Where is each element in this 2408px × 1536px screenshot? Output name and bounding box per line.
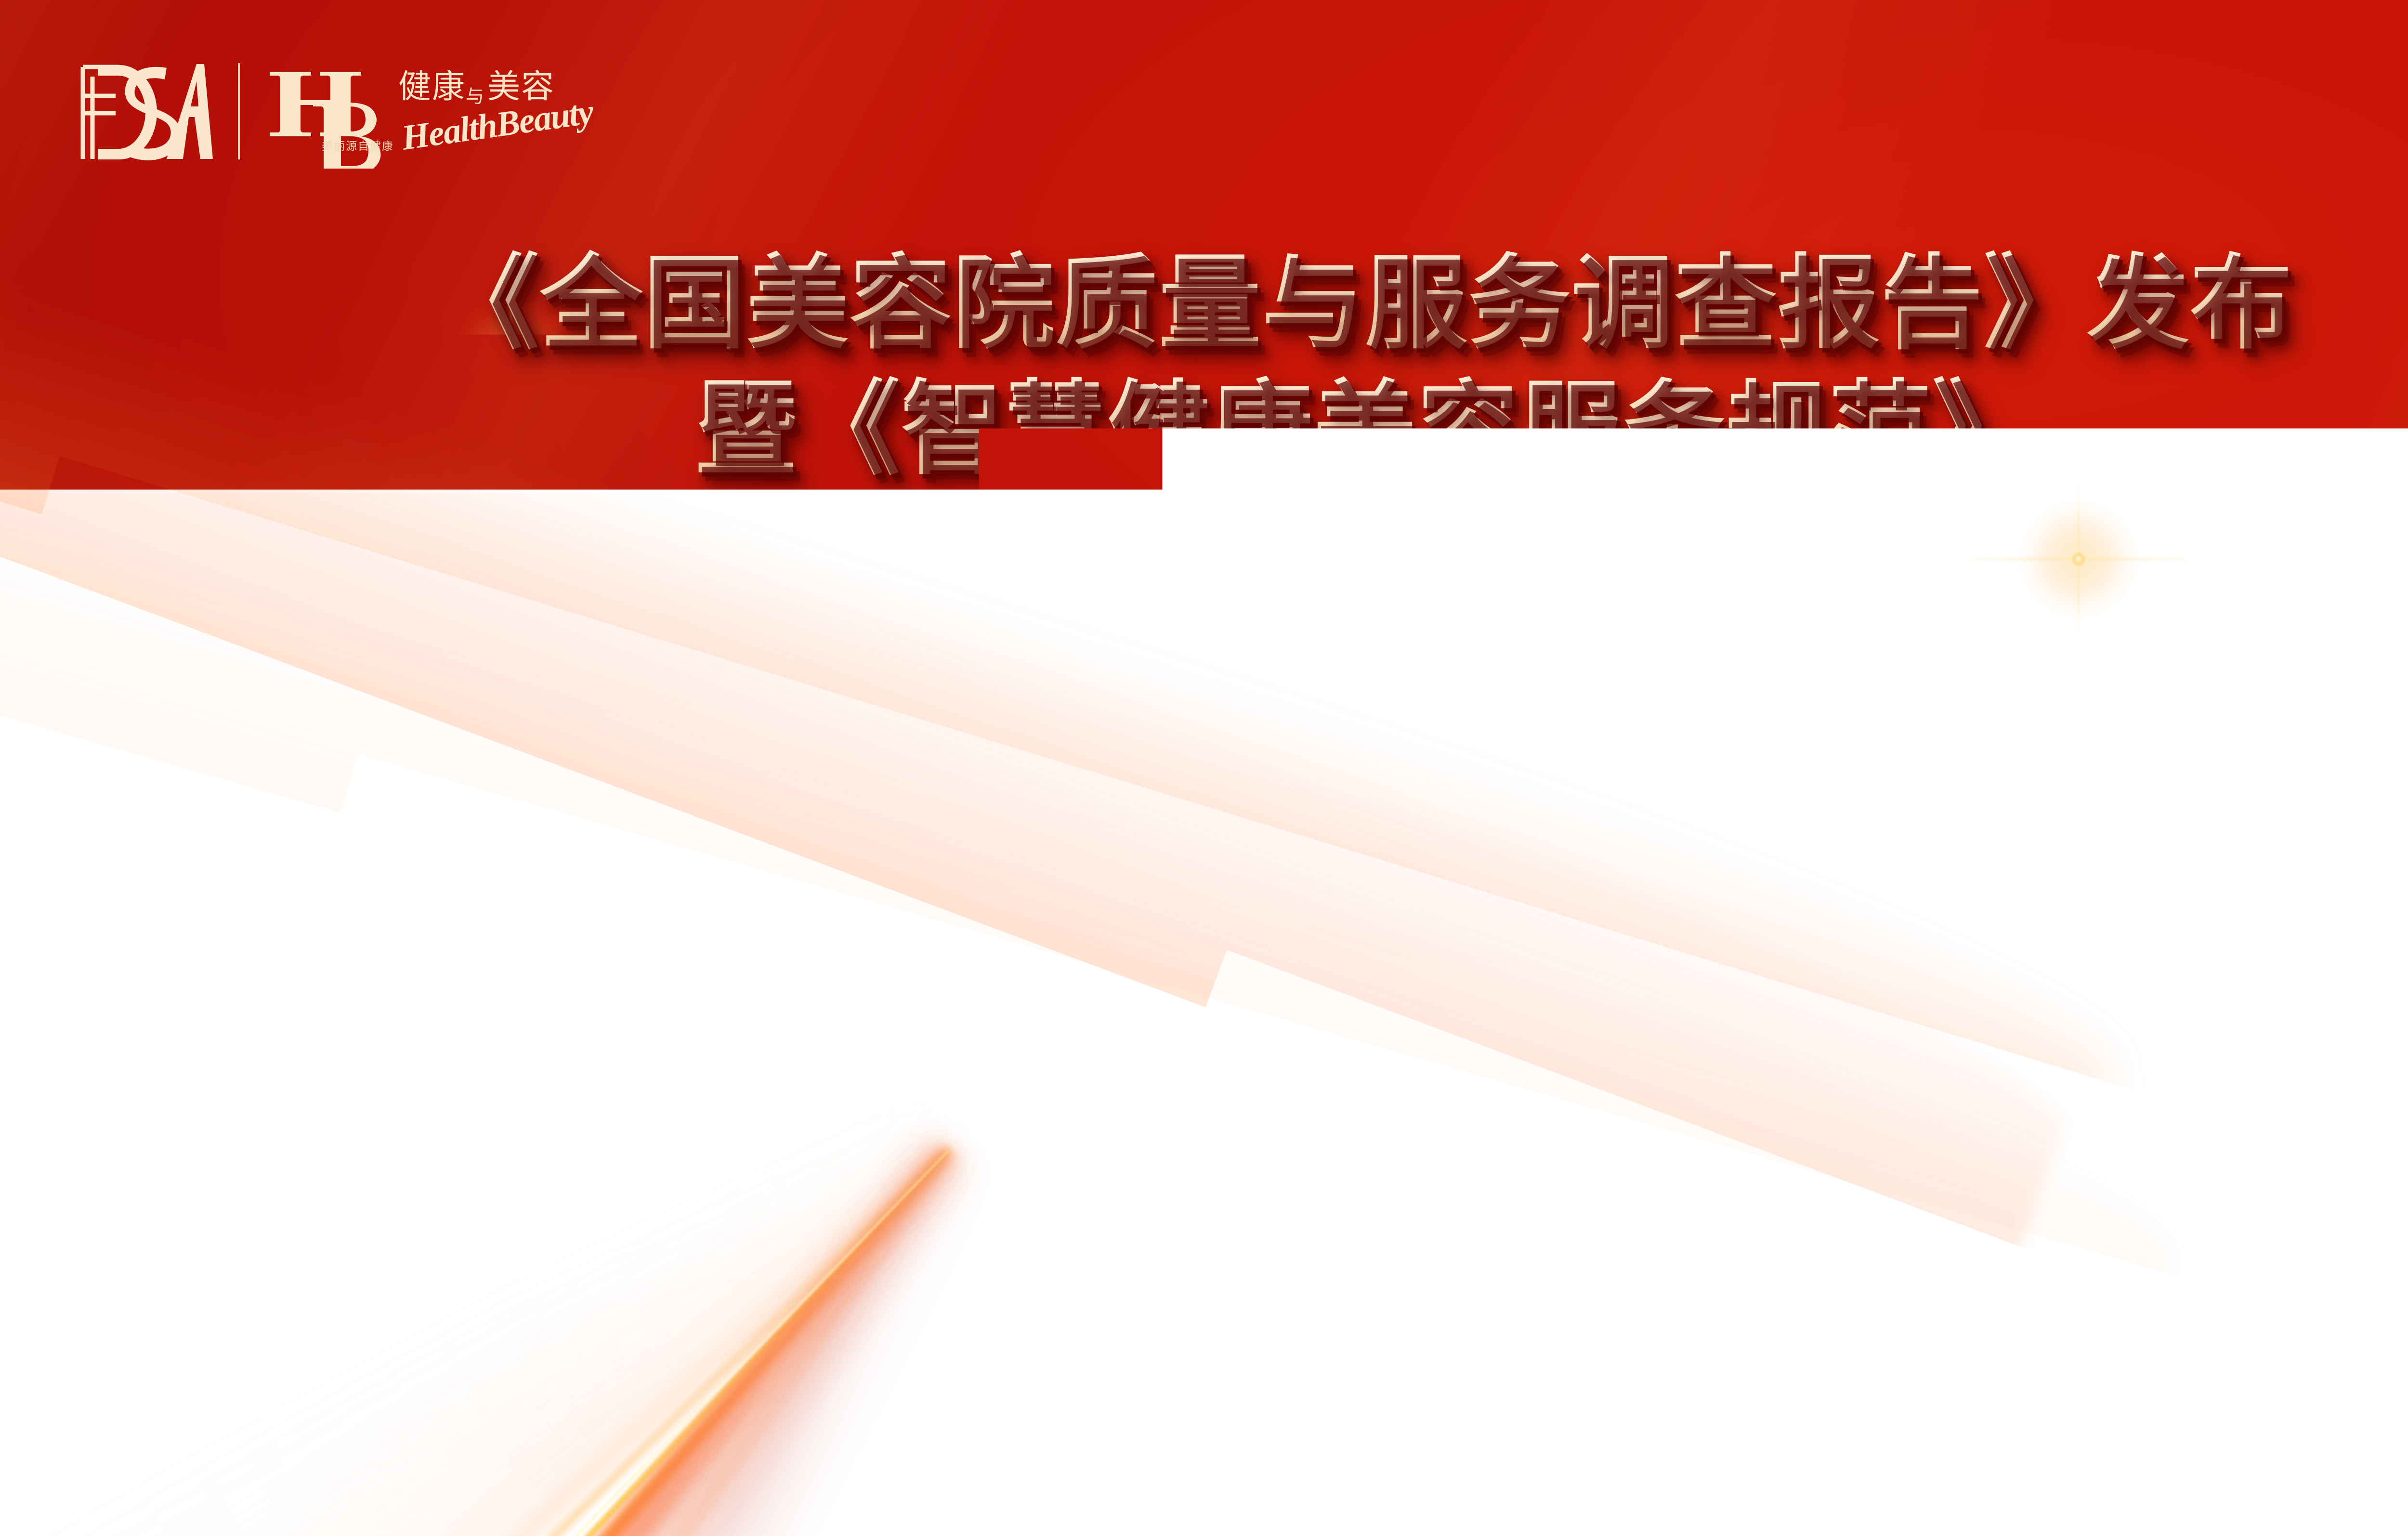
logo-divider — [238, 63, 240, 159]
organizer-list: 指 导 单 位 ： 中国食品药品企业质量安全促进会 主 办 ： 中国食药促进会智… — [0, 839, 2408, 1115]
organizer-label-char: 导 — [729, 839, 785, 931]
organizer-label-char: 单 — [785, 839, 842, 931]
organizer-value-guidance: 中国食品药品企业质量安全促进会 — [932, 839, 2059, 931]
event-poster: 健康 与 美容 HealthBeauty 美丽源自健康 《全国美容院质量与服务调… — [0, 0, 2408, 1536]
organizer-row-host: 主 办 ： 中国食药促进会智慧健康美容分会 — [672, 931, 2059, 1023]
organizer-label-char: 办 — [841, 1023, 898, 1115]
brand-logo-lockup[interactable]: 健康 与 美容 HealthBeauty 美丽源自健康 — [67, 60, 593, 171]
organizer-label-guidance: 指 导 单 位 — [672, 839, 898, 931]
poster-title: 《全国美容院质量与服务调查报告》发布 暨《智慧健康美容服务规范》 标准启动实施专… — [0, 241, 2408, 617]
title-line-2: 暨《智慧健康美容服务规范》 — [0, 367, 2408, 492]
svg-text:与: 与 — [466, 87, 484, 107]
organizer-label-char: 协 — [672, 1023, 729, 1115]
event-date: 2024.8.30 — [0, 1207, 2408, 1279]
title-line-3: 标准启动实施专题研讨会 — [0, 492, 2408, 618]
organizer-label-char: 位 — [842, 839, 899, 931]
organizer-value-cohost: 《健康与美容》杂志社 — [932, 1023, 2059, 1115]
organizer-label-char: 办 — [841, 931, 898, 1023]
organizer-label-char: 主 — [672, 931, 729, 1023]
title-line-1: 《全国美容院质量与服务调查报告》发布 — [0, 241, 2408, 367]
organizer-row-guidance: 指 导 单 位 ： 中国食品药品企业质量安全促进会 — [672, 839, 2059, 931]
organizer-row-cohost: 协 办 ： 《健康与美容》杂志社 — [672, 1023, 2059, 1115]
organizer-label-host: 主 办 — [672, 931, 898, 1023]
svg-text:健康: 健康 — [398, 68, 466, 105]
organizer-label-cohost: 协 办 — [672, 1023, 898, 1115]
organizer-label-char: 指 — [672, 839, 729, 931]
hb-magazine-logo: 健康 与 美容 HealthBeauty 美丽源自健康 — [261, 60, 593, 169]
svg-text:美丽源自健康: 美丽源自健康 — [322, 140, 394, 152]
organizer-value-host: 中国食药促进会智慧健康美容分会 — [932, 931, 2059, 1023]
organizer-colon: ： — [898, 839, 932, 931]
organizer-colon: ： — [898, 931, 932, 1023]
fdsa-logo-icon — [67, 60, 217, 164]
organizer-colon: ： — [898, 1023, 932, 1115]
